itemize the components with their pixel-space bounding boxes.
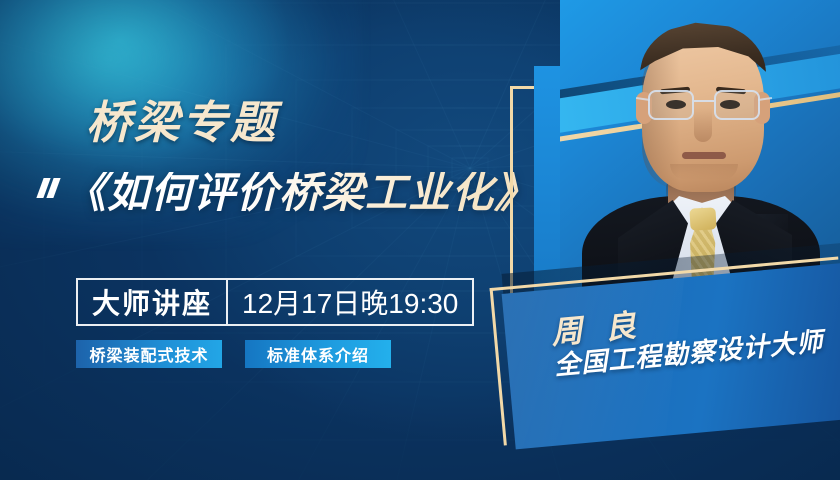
lecture-info-bar: 大师讲座 12月17日晚19:30 bbox=[76, 278, 474, 326]
topic-tag[interactable]: 标准体系介绍 bbox=[245, 340, 391, 368]
necktie-knot bbox=[689, 207, 716, 230]
glasses-bridge bbox=[694, 100, 714, 102]
lecture-label: 大师讲座 bbox=[92, 282, 212, 322]
lecture-datetime: 12月17日晚19:30 bbox=[242, 282, 458, 322]
subtitle-row: 《如何评价桥梁工业化》 bbox=[40, 172, 566, 232]
mouth-shape bbox=[682, 152, 726, 159]
topic-tag[interactable]: 桥梁装配式技术 bbox=[76, 340, 222, 368]
speaker-name-plate: 周 良 全国工程勘察设计大师 bbox=[502, 263, 840, 450]
lecture-poster: 桥梁专题 《如何评价桥梁工业化》 大师讲座 12月17日晚19:30 桥梁装配式… bbox=[0, 0, 840, 480]
open-quote-icon bbox=[40, 178, 60, 202]
lecture-datetime-cell: 12月17日晚19:30 bbox=[228, 280, 472, 324]
nose-shape bbox=[694, 108, 712, 142]
subtitle: 《如何评价桥梁工业化》 bbox=[64, 172, 537, 214]
lens-right bbox=[714, 90, 760, 120]
chin-shadow bbox=[670, 164, 738, 180]
lens-left bbox=[648, 90, 694, 120]
lecture-label-cell: 大师讲座 bbox=[78, 280, 226, 324]
page-title: 桥梁专题 bbox=[86, 100, 278, 145]
topic-tags: 桥梁装配式技术 标准体系介绍 bbox=[76, 340, 391, 368]
